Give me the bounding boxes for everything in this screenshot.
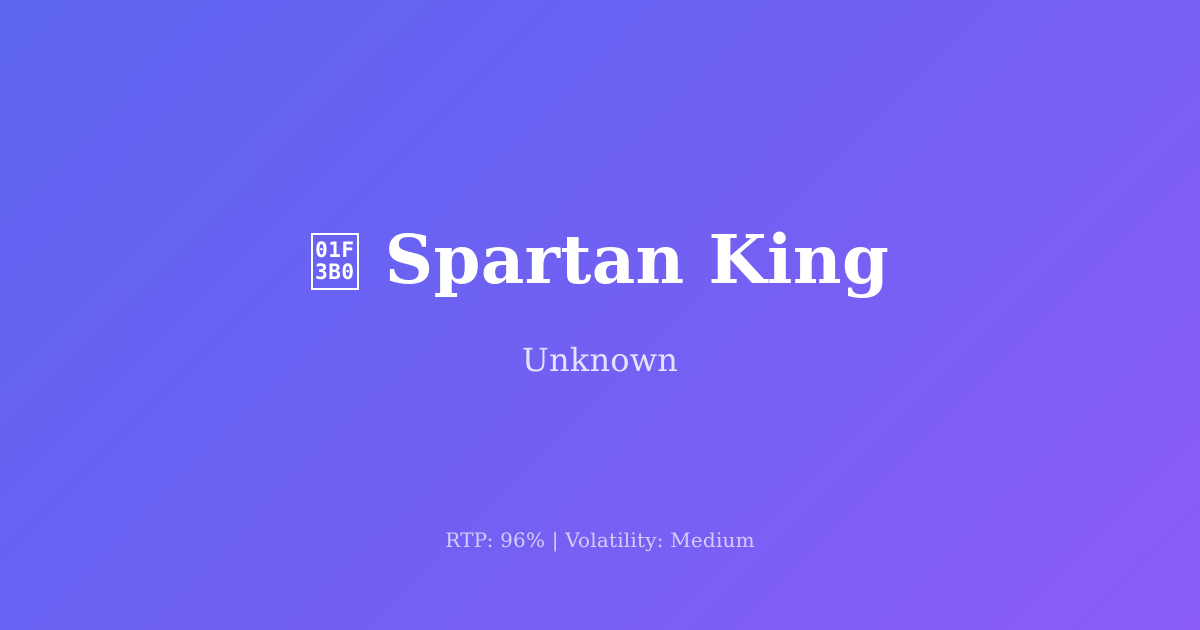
title-row: 01F 3B0 Spartan King [311,226,889,293]
tofu-codepoint-top: 01F [315,240,354,261]
tofu-codepoint-bottom: 3B0 [315,262,354,283]
game-preview-card: 01F 3B0 Spartan King Unknown RTP: 96% | … [0,0,1200,630]
slot-machine-icon: 01F 3B0 [311,233,359,290]
game-stats: RTP: 96% | Volatility: Medium [0,528,1200,552]
game-provider: Unknown [522,341,678,379]
hero-block: 01F 3B0 Spartan King Unknown [0,226,1200,379]
game-title: Spartan King [385,226,889,293]
